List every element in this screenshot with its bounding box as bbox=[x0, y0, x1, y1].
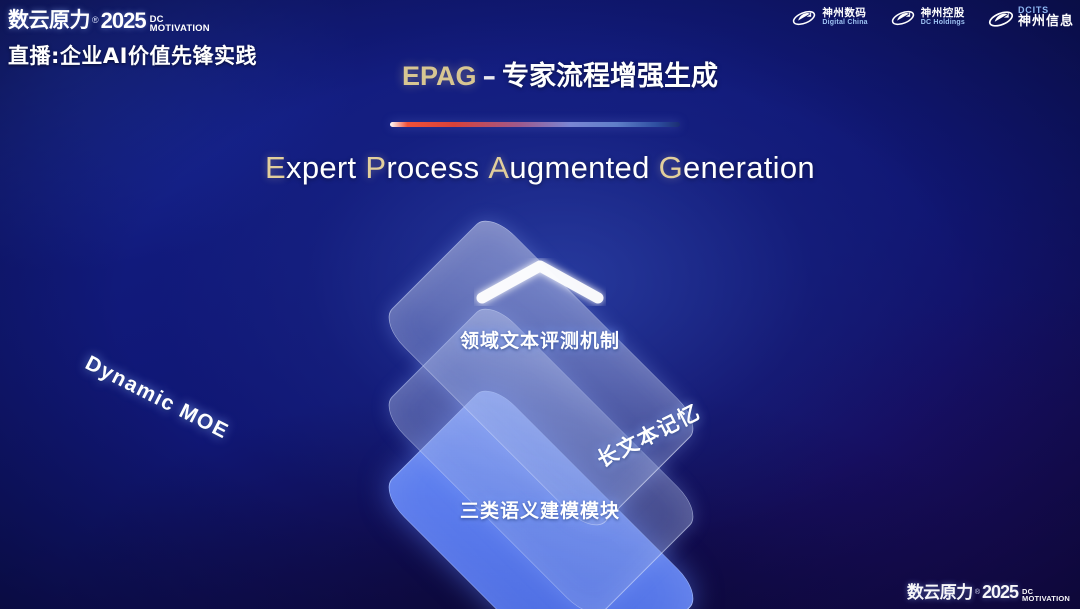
partner-logo-dc-holdings: 神州控股 DC Holdings bbox=[890, 8, 965, 28]
page-subtitle: Expert Process Augmented Generation bbox=[0, 150, 1080, 186]
partner-text: DCITS 神州信息 bbox=[1018, 6, 1074, 29]
watermark-name-cn: 数云原力 bbox=[907, 578, 973, 603]
title-dash: – bbox=[483, 61, 497, 92]
partner-text: 神州数码 Digital China bbox=[822, 8, 867, 26]
watermark-registered-mark: ® bbox=[975, 589, 980, 596]
brand-name-cn: 数云原力 bbox=[8, 4, 90, 34]
partner-name-en: Digital China bbox=[822, 19, 867, 26]
brand-year: 2025 bbox=[101, 8, 146, 34]
title-divider bbox=[390, 122, 680, 127]
subtitle-rest-generation: eneration bbox=[683, 150, 815, 185]
partner-name-en: DC Holdings bbox=[921, 19, 965, 26]
layer-label-dynamic-moe: Dynamic MOE bbox=[81, 352, 232, 445]
subtitle-cap-g: G bbox=[659, 150, 683, 185]
layer-label-top: 领域文本评测机制 bbox=[460, 326, 620, 353]
brand-dc-motivation: DC MOTIVATION bbox=[150, 15, 210, 33]
brand-header: 数云原力 ® 2025 DC MOTIVATION 直播:企业AI价值先锋实践 bbox=[8, 4, 257, 70]
title-chinese: 专家流程增强生成 bbox=[502, 61, 718, 92]
subtitle-cap-a: A bbox=[488, 150, 509, 185]
watermark-year: 2025 bbox=[982, 582, 1018, 603]
title-acronym: EPAG bbox=[402, 61, 477, 91]
livestream-subtitle: 直播:企业AI价值先锋实践 bbox=[8, 40, 257, 70]
registered-mark: ® bbox=[92, 15, 99, 25]
subtitle-rest-process: rocess bbox=[386, 150, 479, 185]
layer-stack-diagram: 领域文本评测机制 Dynamic MOE 长文本记忆 三类语义建模模块 bbox=[0, 214, 1080, 584]
presentation-slide: 数云原力 ® 2025 DC MOTIVATION 直播:企业AI价值先锋实践 … bbox=[0, 0, 1080, 609]
partner-logo-dcits: DCITS 神州信息 bbox=[987, 6, 1074, 29]
swirl-logo-icon bbox=[987, 8, 1013, 28]
partner-name-cn: 神州控股 bbox=[921, 8, 965, 19]
footer-watermark: 数云原力 ® 2025 DC MOTIVATION bbox=[907, 578, 1070, 603]
watermark-dc-motivation: DC MOTIVATION bbox=[1022, 588, 1070, 602]
watermark-dc-line2: MOTIVATION bbox=[1022, 595, 1070, 602]
brand-logo: 数云原力 ® 2025 DC MOTIVATION bbox=[8, 4, 257, 34]
subtitle-cap-e: E bbox=[265, 150, 286, 185]
subtitle-rest-expert: xpert bbox=[286, 150, 356, 185]
swirl-logo-icon bbox=[791, 8, 817, 28]
swirl-logo-icon bbox=[890, 8, 916, 28]
partner-text: 神州控股 DC Holdings bbox=[921, 8, 965, 26]
chevron-up-icon bbox=[474, 258, 606, 311]
partner-logo-digital-china: 神州数码 Digital China bbox=[791, 8, 867, 28]
brand-dc-line2: MOTIVATION bbox=[150, 24, 210, 33]
partner-name-cn: 神州信息 bbox=[1018, 15, 1074, 29]
partner-logos: 神州数码 Digital China 神州控股 DC Holdings bbox=[791, 6, 1074, 29]
layer-label-bottom: 三类语义建模模块 bbox=[460, 496, 620, 523]
partner-name-cn: 神州数码 bbox=[822, 8, 867, 19]
subtitle-cap-p: P bbox=[365, 150, 386, 185]
subtitle-rest-augmented: ugmented bbox=[509, 150, 649, 185]
